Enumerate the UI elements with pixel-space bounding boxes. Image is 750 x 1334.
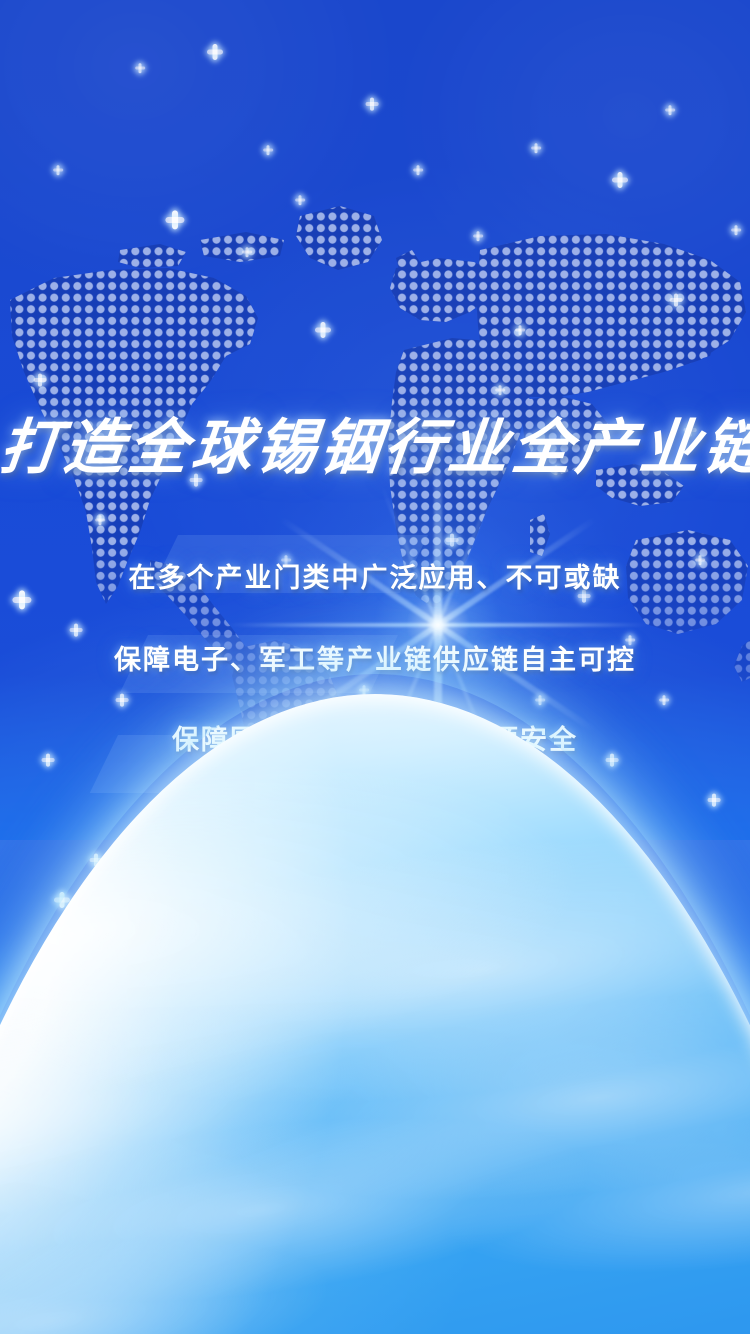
tagline-item-2: 保障电子、军工等产业链供应链自主可控	[0, 644, 750, 676]
poster-canvas: 打造全球锡铟行业全产业链链主 在多个产业门类中广泛应用、不可或缺 保障电子、军工…	[0, 0, 750, 1334]
earth-cloud-bands	[0, 694, 750, 1334]
tagline-item-1: 在多个产业门类中广泛应用、不可或缺	[0, 562, 750, 594]
page-title: 打造全球锡铟行业全产业链链主	[0, 418, 750, 478]
earth-graphic	[0, 694, 750, 1334]
